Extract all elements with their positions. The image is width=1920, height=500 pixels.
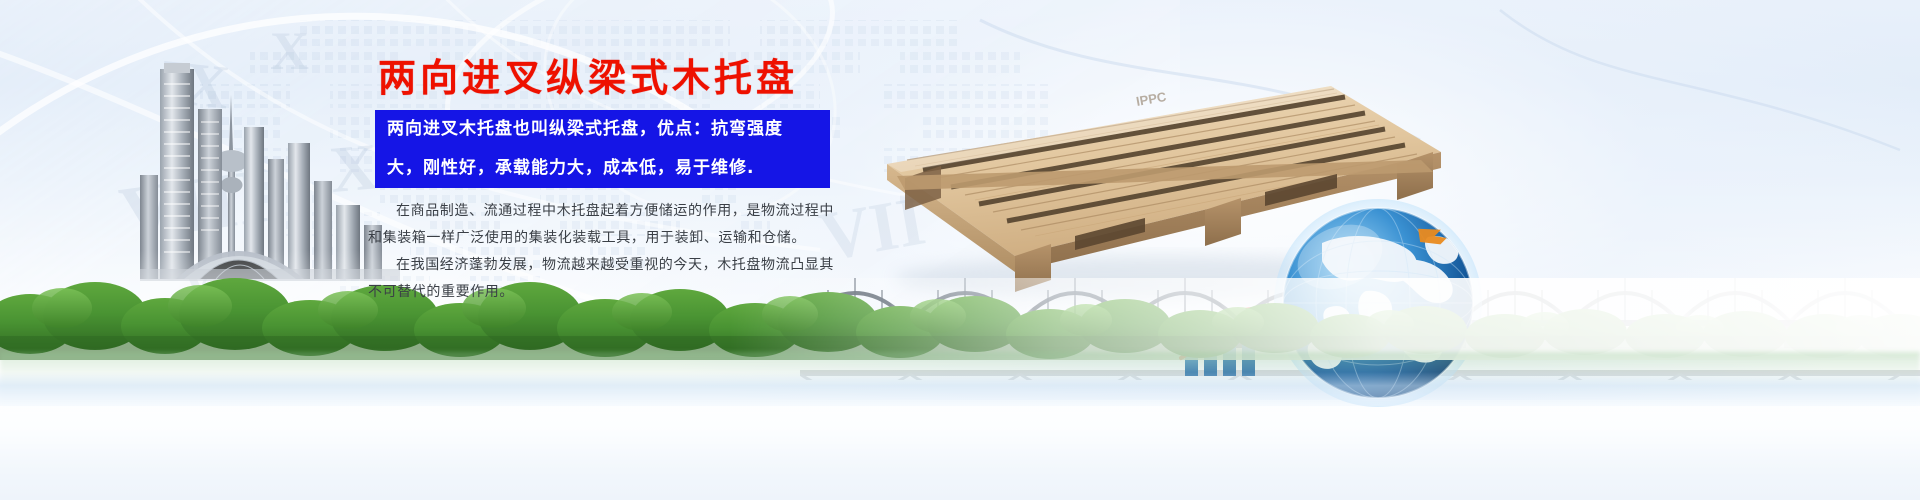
tree-line-icon bbox=[0, 278, 1920, 360]
paragraph-1: 在商品制造、流通过程中木托盘起着方便储运的作用，是物流过程中和集装箱一样广泛使用… bbox=[368, 198, 843, 252]
pallet-stamp-text: IPPC bbox=[1135, 89, 1168, 109]
highlight-line-2: 大，刚性好，承载能力大，成本低，易于维修. bbox=[375, 149, 830, 188]
highlight-callout: 两向进叉木托盘也叫纵梁式托盘，优点：抗弯强度 大，刚性好，承载能力大，成本低，易… bbox=[375, 110, 830, 188]
highlight-line-1: 两向进叉木托盘也叫纵梁式托盘，优点：抗弯强度 bbox=[375, 110, 830, 149]
water-surface bbox=[0, 372, 1920, 406]
description-paragraphs: 在商品制造、流通过程中木托盘起着方便储运的作用，是物流过程中和集装箱一样广泛使用… bbox=[368, 198, 843, 306]
promo-banner: VIII IX X XI VI VII IV bbox=[0, 0, 1920, 500]
page-title: 两向进叉纵梁式木托盘 bbox=[378, 56, 798, 100]
paragraph-2: 在我国经济蓬勃发展，物流越来越受重视的今天，木托盘物流凸显其不可替代的重要作用。 bbox=[368, 252, 843, 306]
background-bottom bbox=[0, 400, 1920, 500]
